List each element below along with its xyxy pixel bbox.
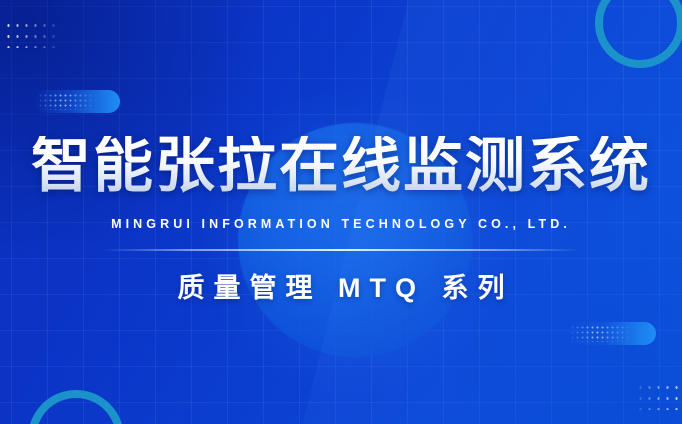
divider-line	[102, 249, 580, 251]
banner-headline: 智能张拉在线监测系统	[31, 136, 651, 196]
banner-content: 智能张拉在线监测系统 MINGRUI INFORMATION TECHNOLOG…	[0, 0, 682, 424]
banner-series-label: 质量管理 MTQ 系列	[169, 266, 514, 305]
promo-banner: 智能张拉在线监测系统 MINGRUI INFORMATION TECHNOLOG…	[0, 0, 682, 424]
banner-subtitle-company: MINGRUI INFORMATION TECHNOLOGY CO., LTD.	[111, 217, 571, 231]
